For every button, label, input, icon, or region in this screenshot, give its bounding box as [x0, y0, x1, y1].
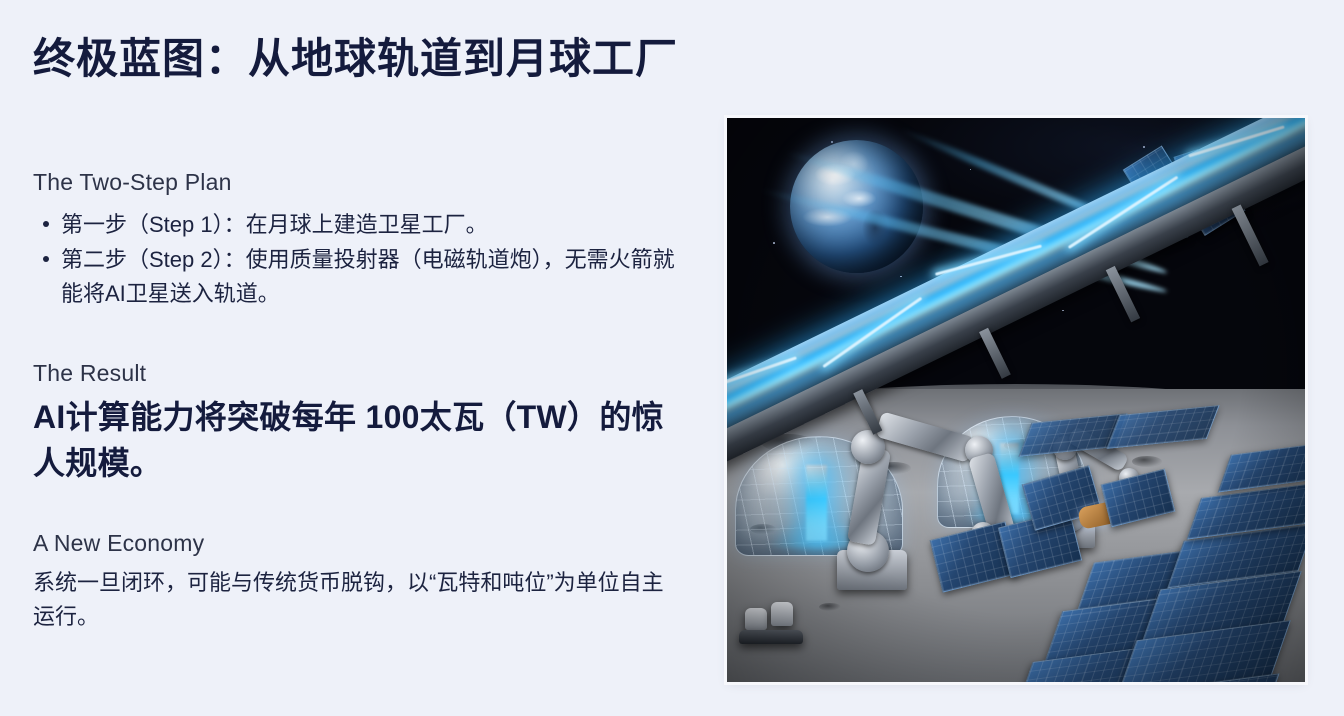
economy-heading: A New Economy	[33, 530, 681, 557]
spacer	[33, 312, 681, 360]
spacer	[33, 486, 681, 530]
result-heading: The Result	[33, 360, 681, 387]
section-result: The Result AI计算能力将突破每年 100太瓦（TW）的惊人规模。	[33, 360, 681, 486]
list-item: 第二步（Step 2）：使用质量投射器（电磁轨道炮），无需火箭就能将AI卫星送入…	[33, 243, 681, 310]
plan-bullet-list: 第一步（Step 1）：在月球上建造卫星工厂。 第二步（Step 2）：使用质量…	[33, 208, 681, 310]
lunar-factory-image	[727, 118, 1305, 682]
page-title: 终极蓝图：从地球轨道到月球工厂	[33, 33, 678, 86]
slide-root: 终极蓝图：从地球轨道到月球工厂 The Two-Step Plan 第一步（St…	[0, 0, 1344, 716]
economy-body: 系统一旦闭环，可能与传统货币脱钩，以“瓦特和吨位”为单位自主运行。	[33, 566, 681, 633]
content-column: The Two-Step Plan 第一步（Step 1）：在月球上建造卫星工厂…	[33, 168, 681, 633]
list-item: 第一步（Step 1）：在月球上建造卫星工厂。	[33, 208, 681, 241]
section-two-step-plan: The Two-Step Plan 第一步（Step 1）：在月球上建造卫星工厂…	[33, 168, 681, 310]
star-icon	[773, 242, 775, 244]
plan-heading: The Two-Step Plan	[33, 168, 681, 198]
section-new-economy: A New Economy 系统一旦闭环，可能与传统货币脱钩，以“瓦特和吨位”为…	[33, 530, 681, 633]
result-statement: AI计算能力将突破每年 100太瓦（TW）的惊人规模。	[33, 395, 681, 486]
